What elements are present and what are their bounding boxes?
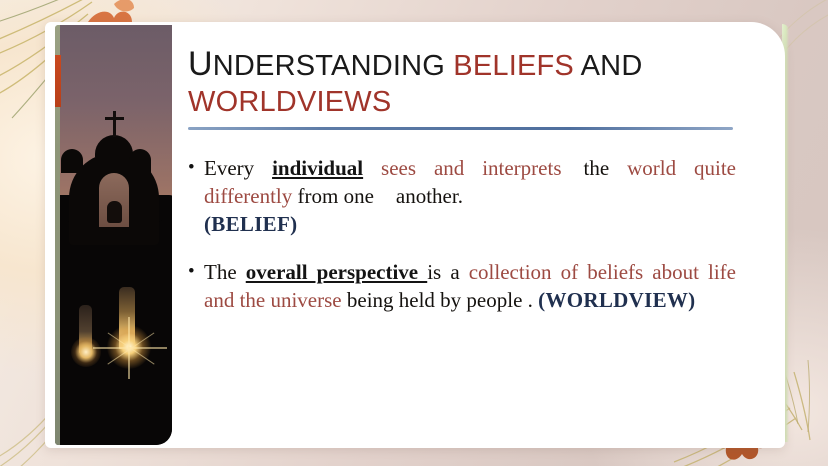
window-light-left	[79, 305, 92, 353]
title-word-understanding: NDERSTANDING	[213, 50, 445, 82]
bullet-text-worldview: The overall perspective is a collection …	[204, 258, 736, 314]
bullet-marker: •	[188, 258, 204, 285]
seg-individual: individual	[272, 156, 363, 180]
title-word-beliefs: BELIEFS	[453, 50, 574, 82]
seg-being-held: being held by people .	[342, 288, 539, 312]
photo-orange-accent	[55, 55, 61, 107]
list-item: • The overall perspective is a collectio…	[188, 258, 736, 314]
slide-content: UNDERSTANDING BELIEFS AND WORLDVIEWS • E…	[188, 46, 736, 334]
seg-every: Every	[204, 156, 272, 180]
window-light-right	[119, 287, 135, 349]
title-divider	[188, 127, 733, 130]
title-word-and: AND	[581, 50, 643, 82]
seg-overall-perspective: overall perspective	[246, 260, 427, 284]
church-silhouette	[55, 115, 172, 445]
church-tower-photo	[55, 25, 172, 445]
title-initial: U	[188, 45, 213, 83]
seg-sees-interprets: sees and interprets	[363, 156, 561, 180]
seg-another: another.	[396, 184, 463, 208]
bullet-marker: •	[188, 154, 204, 181]
bullet-list: • Every individual sees and interpretsth…	[188, 154, 736, 314]
page-title: UNDERSTANDING BELIEFS AND WORLDVIEWS	[188, 46, 736, 120]
slide-stage: UNDERSTANDING BELIEFS AND WORLDVIEWS • E…	[0, 0, 828, 466]
bullet-text-belief: Every individual sees and interpretsthe …	[204, 154, 736, 238]
seg-the: The	[204, 260, 246, 284]
list-item: • Every individual sees and interpretsth…	[188, 154, 736, 238]
seg-the: the	[584, 156, 610, 180]
cross-icon	[113, 111, 116, 137]
keyword-worldview: (WORLDVIEW)	[538, 288, 695, 312]
seg-from-one: from one	[292, 184, 374, 208]
keyword-belief: (BELIEF)	[204, 212, 297, 236]
title-word-worldviews: WORLDVIEWS	[188, 86, 391, 118]
cross-icon-bar	[105, 117, 124, 120]
seg-is-a: is a	[427, 260, 459, 284]
